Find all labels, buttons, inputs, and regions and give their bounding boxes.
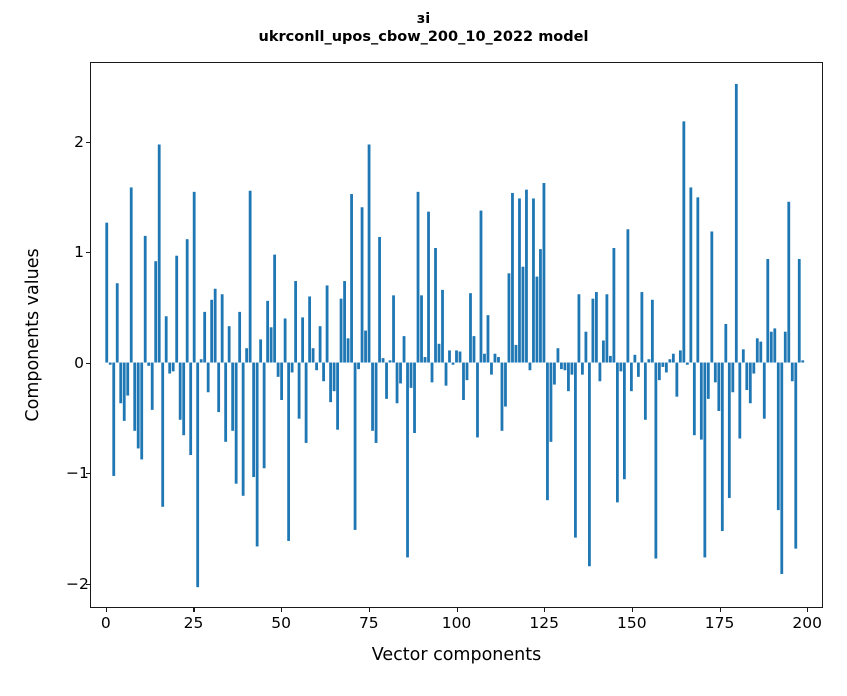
bar <box>119 363 122 404</box>
bar <box>679 350 682 362</box>
bar <box>749 363 752 404</box>
bar <box>361 207 364 362</box>
bar <box>277 363 280 377</box>
bar <box>742 349 745 362</box>
bar <box>490 363 493 375</box>
bar <box>511 193 514 363</box>
bar <box>672 354 675 363</box>
bar <box>571 363 574 375</box>
bar <box>144 236 147 363</box>
bar <box>682 121 685 362</box>
bar <box>689 187 692 362</box>
bar <box>735 84 738 363</box>
bar <box>123 363 126 421</box>
bar <box>291 363 294 373</box>
y-tick-label: 1 <box>66 245 84 259</box>
bar <box>567 363 570 392</box>
bar <box>773 328 776 362</box>
x-tick-label: 25 <box>163 614 223 632</box>
bar <box>459 352 462 363</box>
bar <box>609 356 612 363</box>
bar <box>532 198 535 362</box>
bar <box>179 363 182 420</box>
bar <box>455 350 458 362</box>
bar <box>644 363 647 420</box>
bar <box>658 363 661 381</box>
bar <box>721 363 724 531</box>
bar <box>336 363 339 430</box>
bar <box>340 299 343 363</box>
bar <box>504 363 507 407</box>
bar <box>794 363 797 549</box>
bar <box>392 295 395 362</box>
matplotlib-figure: зі ukrconll_upos_cbow_200_10_2022 model … <box>0 0 847 696</box>
x-tick-mark <box>807 608 808 612</box>
bar <box>550 363 553 442</box>
bar <box>249 191 252 363</box>
bar <box>273 255 276 363</box>
bar <box>469 293 472 362</box>
bar <box>623 363 626 480</box>
bar <box>137 363 140 449</box>
bar <box>714 363 717 383</box>
bar <box>693 363 696 436</box>
x-tick-mark <box>193 608 194 612</box>
bar <box>130 187 133 362</box>
bar <box>210 300 213 363</box>
bar <box>284 318 287 362</box>
x-tick-label: 50 <box>251 614 311 632</box>
bar <box>756 338 759 362</box>
bar <box>424 357 427 363</box>
bar <box>487 315 490 362</box>
bar <box>626 229 629 362</box>
bar <box>770 332 773 363</box>
bar <box>476 363 479 438</box>
bar <box>203 312 206 363</box>
bar <box>633 355 636 363</box>
bars-container <box>91 63 822 607</box>
bar <box>172 363 175 372</box>
bar <box>207 363 210 393</box>
bar <box>350 194 353 362</box>
bar <box>431 363 434 383</box>
x-tick-mark <box>281 608 282 612</box>
bar <box>326 285 329 362</box>
bar <box>546 363 549 501</box>
chart-title-line-1: зі <box>0 10 847 28</box>
bar <box>602 341 605 363</box>
bar <box>112 363 115 476</box>
bar <box>448 350 451 362</box>
bar <box>438 344 441 363</box>
bar <box>417 192 420 363</box>
bar <box>427 212 430 363</box>
bar <box>738 363 741 439</box>
bar <box>801 360 804 362</box>
bar <box>354 363 357 530</box>
bar <box>217 363 220 413</box>
bar <box>315 363 318 371</box>
bar <box>116 283 119 362</box>
x-tick-mark <box>544 608 545 612</box>
bar <box>312 348 315 362</box>
bar <box>168 363 171 374</box>
bar <box>403 336 406 362</box>
x-tick-mark <box>457 608 458 612</box>
bar <box>651 300 654 363</box>
bar <box>640 292 643 362</box>
bar <box>703 363 706 558</box>
bar <box>522 267 525 363</box>
bar <box>581 363 584 375</box>
bar <box>221 294 224 362</box>
bar <box>294 281 297 362</box>
bar <box>154 261 157 362</box>
bar <box>564 363 567 371</box>
bar <box>266 301 269 363</box>
bar <box>717 363 720 411</box>
bar <box>364 331 367 363</box>
bar <box>553 363 556 385</box>
bar <box>109 363 112 365</box>
bar <box>231 363 234 431</box>
bar <box>780 363 783 574</box>
bar <box>329 363 332 403</box>
bar <box>630 363 633 392</box>
bar <box>196 363 199 588</box>
bar <box>301 317 304 362</box>
bar <box>710 231 713 362</box>
bar <box>724 324 727 363</box>
bar <box>529 363 532 371</box>
bar <box>298 363 301 419</box>
bar <box>462 363 465 400</box>
bar <box>637 363 640 377</box>
x-tick-label: 75 <box>339 614 399 632</box>
bar <box>319 326 322 362</box>
x-axis-label: Vector components <box>90 645 823 665</box>
bar <box>242 363 245 496</box>
bar <box>287 363 290 541</box>
bar <box>483 354 486 363</box>
bar <box>343 281 346 362</box>
bar <box>665 363 668 373</box>
y-tick-label: −2 <box>66 577 84 591</box>
bar <box>189 363 192 455</box>
bar <box>420 295 423 362</box>
bar <box>515 345 518 363</box>
bar <box>574 363 577 538</box>
bar <box>158 144 161 362</box>
x-tick-label: 200 <box>777 614 837 632</box>
bar <box>501 363 504 431</box>
bar <box>263 363 266 469</box>
bar <box>606 294 609 362</box>
bar <box>445 363 448 386</box>
bar <box>399 363 402 384</box>
bar <box>270 327 273 362</box>
bar <box>235 363 238 484</box>
bar <box>661 363 664 367</box>
x-tick-mark <box>369 608 370 612</box>
bar <box>700 363 703 440</box>
bar <box>557 348 560 362</box>
bar <box>322 363 325 382</box>
bar <box>595 292 598 362</box>
bar <box>777 363 780 511</box>
bar <box>406 363 409 558</box>
bar <box>347 338 350 362</box>
bar <box>668 359 671 362</box>
chart-title: зі ukrconll_upos_cbow_200_10_2022 model <box>0 10 847 46</box>
x-tick-label: 0 <box>76 614 136 632</box>
bar <box>375 363 378 443</box>
bar <box>592 299 595 363</box>
bar <box>480 211 483 363</box>
bar <box>647 359 650 362</box>
y-axis-label: Components values <box>20 62 46 608</box>
x-tick-label: 150 <box>602 614 662 632</box>
bar <box>214 289 217 363</box>
bar <box>536 277 539 363</box>
y-tick-label: −1 <box>66 466 84 480</box>
bar <box>308 296 311 362</box>
bar <box>752 363 755 374</box>
bar <box>791 363 794 382</box>
bar <box>441 290 444 363</box>
chart-title-line-2: ukrconll_upos_cbow_200_10_2022 model <box>0 28 847 46</box>
bar <box>798 259 801 363</box>
bar <box>252 363 255 478</box>
bar <box>745 363 748 391</box>
bar <box>560 363 563 370</box>
bar <box>193 192 196 363</box>
bar <box>228 326 231 362</box>
bar <box>784 332 787 363</box>
bar-series <box>91 63 822 607</box>
bar <box>378 237 381 363</box>
bar <box>787 202 790 363</box>
bar <box>371 363 374 431</box>
bar <box>396 363 399 404</box>
bar <box>147 363 150 366</box>
bar <box>186 239 189 362</box>
y-tick-label: 2 <box>66 135 84 149</box>
bar <box>675 363 678 397</box>
y-tick-label: 0 <box>66 356 84 370</box>
bar <box>599 363 602 382</box>
bar <box>385 363 388 399</box>
bar <box>434 248 437 363</box>
x-tick-mark <box>632 608 633 612</box>
bar <box>161 363 164 507</box>
bar <box>368 144 371 362</box>
bar <box>654 363 657 559</box>
x-tick-mark <box>106 608 107 612</box>
bar <box>238 312 241 363</box>
bar <box>473 336 476 362</box>
bar <box>585 332 588 363</box>
bar <box>126 363 129 396</box>
bar <box>305 363 308 443</box>
bar <box>466 363 469 381</box>
bar <box>452 363 455 365</box>
bar <box>280 363 283 400</box>
bar <box>578 294 581 362</box>
bar <box>151 363 154 410</box>
bar <box>763 363 766 419</box>
bar <box>707 363 710 399</box>
bar <box>182 363 185 436</box>
bar <box>518 198 521 362</box>
bar <box>200 359 203 362</box>
bar <box>612 248 615 363</box>
bar <box>389 360 392 362</box>
bar <box>133 363 136 431</box>
plot-area <box>90 62 823 608</box>
x-tick-label: 125 <box>514 614 574 632</box>
bar <box>766 259 769 363</box>
bar <box>759 342 762 363</box>
bar <box>497 357 500 363</box>
bar <box>494 354 497 363</box>
bar <box>525 190 528 363</box>
bar <box>731 363 734 393</box>
bar <box>728 363 731 498</box>
bar <box>140 363 143 460</box>
bar <box>382 358 385 362</box>
x-tick-label: 100 <box>427 614 487 632</box>
bar <box>413 363 416 433</box>
bar <box>543 183 546 363</box>
bar <box>259 339 262 362</box>
bar <box>357 363 360 370</box>
bar <box>508 273 511 362</box>
x-tick-mark <box>720 608 721 612</box>
bar <box>616 363 619 503</box>
bar <box>619 363 622 372</box>
bar <box>105 223 108 363</box>
bar <box>175 256 178 363</box>
bar <box>539 249 542 362</box>
bar <box>224 363 227 442</box>
bar <box>410 363 413 388</box>
x-tick-label: 175 <box>690 614 750 632</box>
bar <box>588 363 591 567</box>
bar <box>245 348 248 362</box>
bar <box>696 197 699 362</box>
bar <box>256 363 259 547</box>
bar <box>333 363 336 392</box>
bar <box>686 363 689 365</box>
bar <box>165 316 168 362</box>
